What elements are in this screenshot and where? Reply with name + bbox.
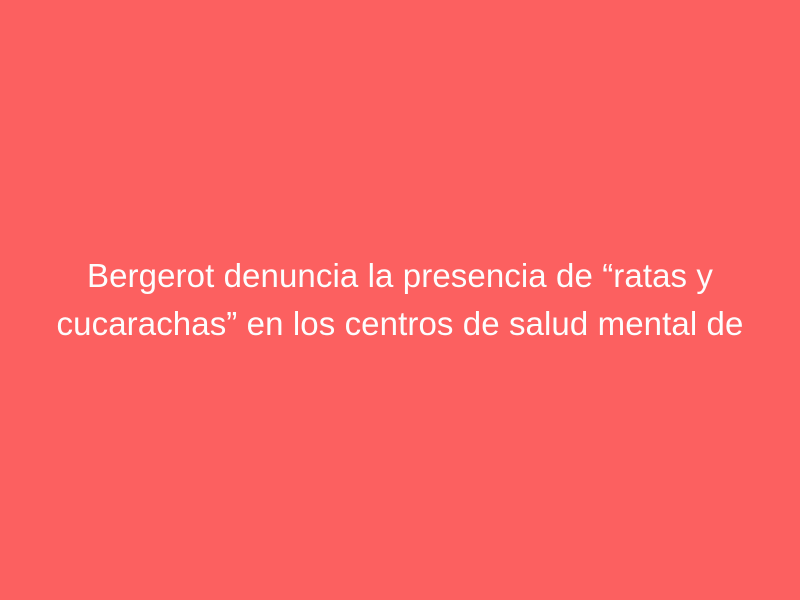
headline-card: Bergerot denuncia la presencia de “ratas… (0, 0, 800, 600)
headline-text-block: Bergerot denuncia la presencia de “ratas… (0, 252, 800, 348)
page-title: Bergerot denuncia la presencia de “ratas… (55, 252, 745, 348)
